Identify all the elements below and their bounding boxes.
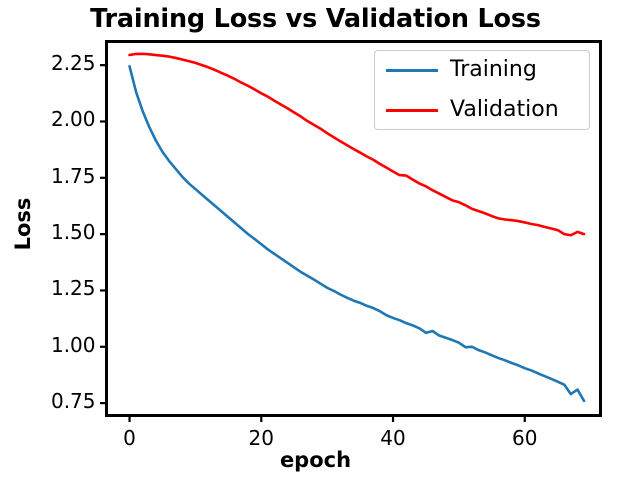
y-tick-label: 2.25 <box>51 51 96 75</box>
chart-legend: TrainingValidation <box>374 50 590 130</box>
legend-label: Validation <box>450 97 559 122</box>
y-tick-label: 0.75 <box>51 389 96 413</box>
x-tick-label: 40 <box>343 426 443 450</box>
chart-figure: Training Loss vs Validation Loss 0.751.0… <box>0 0 631 484</box>
y-tick-label: 1.75 <box>51 164 96 188</box>
y-tick-label: 2.00 <box>51 107 96 131</box>
y-axis-label: Loss <box>11 179 35 269</box>
y-tick-label: 1.25 <box>51 276 96 300</box>
x-axis-label: epoch <box>0 448 631 472</box>
y-tick-label: 1.00 <box>51 333 96 357</box>
x-tick-label: 60 <box>475 426 575 450</box>
x-tick-label: 0 <box>80 426 180 450</box>
legend-swatch-training <box>386 69 438 72</box>
legend-item-validation[interactable]: Validation <box>375 91 591 131</box>
legend-swatch-validation <box>386 109 438 112</box>
legend-item-training[interactable]: Training <box>375 51 591 91</box>
x-tick-label: 20 <box>211 426 311 450</box>
legend-label: Training <box>450 57 537 82</box>
y-tick-label: 1.50 <box>51 220 96 244</box>
